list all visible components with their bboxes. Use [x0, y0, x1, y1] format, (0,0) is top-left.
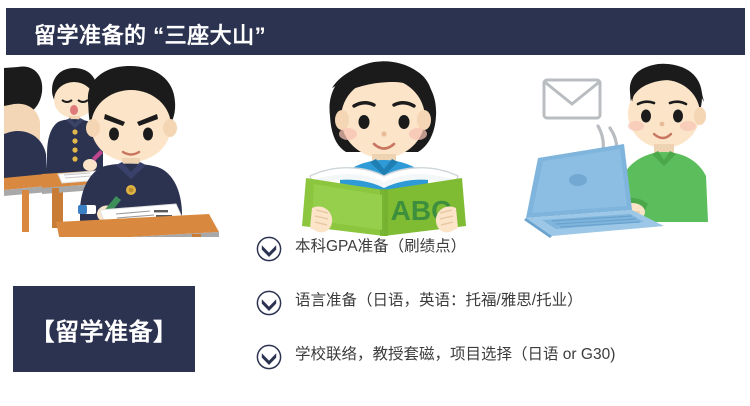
list-item: 语言准备（日语，英语：托福/雅思/托业）	[256, 288, 615, 342]
boy-reading-abc-book-illustration: ABC	[296, 58, 474, 236]
slide-canvas: 留学准备的 “三座大山”	[0, 0, 750, 406]
background-student-left	[4, 67, 48, 184]
study-abroad-prep-label-box: 【留学准备】	[13, 286, 195, 372]
chevron-down-circle-icon	[256, 236, 282, 262]
list-item-label: 学校联络，教授套磁，项目选择（日语 or G30)	[295, 342, 615, 368]
list-item-label: 语言准备（日语，英语：托福/雅思/托业）	[295, 288, 583, 314]
list-item-label: 本科GPA准备（刷绩点）	[295, 234, 466, 260]
chevron-down-circle-icon	[256, 344, 282, 370]
boy-with-laptop-email-illustration	[512, 62, 710, 238]
chevron-down-circle-icon	[256, 290, 282, 316]
person-with-laptop	[619, 64, 708, 222]
page-title: 留学准备的 “三座大山”	[34, 18, 266, 50]
exam-students-illustration	[4, 62, 219, 237]
title-banner: 留学准备的 “三座大山”	[6, 8, 745, 55]
list-item: 学校联络，教授套磁，项目选择（日语 or G30)	[256, 342, 615, 396]
label-box-text: 【留学准备】	[31, 312, 178, 347]
list-item: 本科GPA准备（刷绩点）	[256, 234, 615, 288]
envelope-icon	[544, 80, 600, 118]
bullet-list: 本科GPA准备（刷绩点） 语言准备（日语，英语：托福/雅思/托业） 学校联络，教…	[256, 234, 615, 396]
